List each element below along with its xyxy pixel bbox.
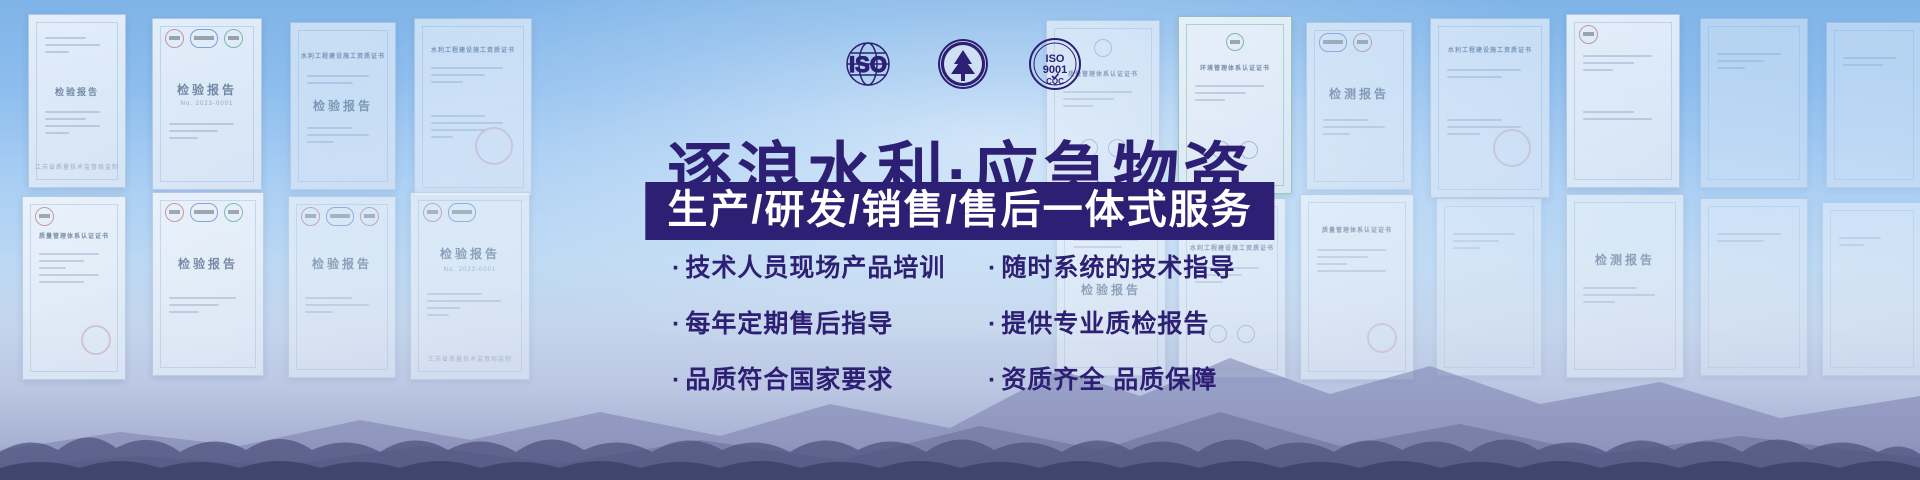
treeline-silhouette bbox=[0, 410, 1920, 480]
cert-title: 质量管理体系认证证书 bbox=[23, 231, 125, 240]
feature-label: 品质符合国家要求 bbox=[685, 360, 893, 396]
cert-title: 质量管理体系认证证书 bbox=[1301, 225, 1413, 234]
cert-title: 检测报告 bbox=[1567, 251, 1683, 268]
feature-label: 提供专业质检报告 bbox=[1001, 304, 1209, 340]
bullet-icon: · bbox=[988, 312, 997, 337]
feature-label: 每年定期售后指导 bbox=[685, 304, 893, 340]
bullet-icon: · bbox=[988, 368, 997, 393]
certification-mark-icon bbox=[301, 207, 320, 226]
feature-item: · 每年定期售后指导 bbox=[672, 304, 972, 340]
feature-list: · 技术人员现场产品培训 · 随时系统的技术指导 · 每年定期售后指导 · 提供… bbox=[672, 248, 1248, 396]
feature-label: 技术人员现场产品培训 bbox=[685, 248, 945, 284]
svg-text:ISO: ISO bbox=[849, 52, 887, 77]
feature-label: 随时系统的技术指导 bbox=[1001, 248, 1235, 284]
promotional-banner: 检验报告 江苏省质量技术监督局监制 检验报告 No. 2023-0001 水利工… bbox=[0, 0, 1920, 480]
bullet-icon: · bbox=[672, 256, 681, 281]
bullet-icon: · bbox=[672, 368, 681, 393]
iso-14000-environment-badge-icon bbox=[934, 36, 992, 92]
iso-globe-badge-icon: ISO bbox=[836, 39, 900, 89]
certification-mark-icon bbox=[326, 207, 354, 226]
cert-title: 检验报告 bbox=[153, 255, 263, 272]
certification-mark-icon bbox=[35, 207, 54, 226]
certification-badge-row: ISO ISO 9001 CQC bbox=[0, 36, 1920, 92]
certification-mark-icon bbox=[360, 207, 379, 226]
subtitle-bar: 生产/研发/销售/售后一体式服务 bbox=[645, 182, 1274, 240]
bullet-icon: · bbox=[988, 256, 997, 281]
feature-item: · 资质齐全 品质保障 bbox=[988, 360, 1248, 396]
cert-title: 检验报告 bbox=[411, 245, 529, 262]
feature-item: · 技术人员现场产品培训 bbox=[672, 248, 972, 284]
feature-item: · 品质符合国家要求 bbox=[672, 360, 972, 396]
bullet-icon: · bbox=[672, 312, 681, 337]
feature-label: 资质齐全 品质保障 bbox=[1001, 360, 1217, 396]
cert-title: 检验报告 bbox=[289, 255, 395, 272]
iso-9001-cqc-badge-icon: ISO 9001 CQC bbox=[1026, 36, 1084, 92]
cert-title: 检验报告 bbox=[291, 97, 395, 114]
svg-text:9001: 9001 bbox=[1043, 64, 1067, 76]
cert-sub: No. 2023-0001 bbox=[411, 267, 529, 273]
feature-item: · 提供专业质检报告 bbox=[988, 304, 1248, 340]
feature-item: · 随时系统的技术指导 bbox=[988, 248, 1248, 284]
cert-sub: No. 2023-0001 bbox=[153, 101, 261, 107]
